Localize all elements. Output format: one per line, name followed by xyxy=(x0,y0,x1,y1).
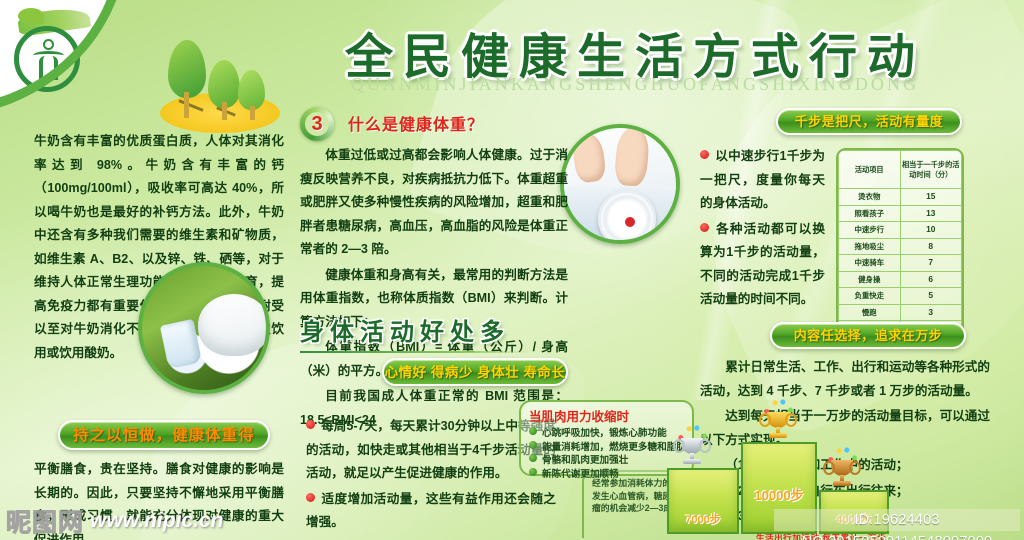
table-row: 中速骑车7 xyxy=(839,255,962,272)
masthead: 全民健康生活方式行动 QUANMINJIANKANGSHENGHUOFANGSH… xyxy=(275,26,995,104)
table-cell-activity: 负重快走 xyxy=(839,288,901,305)
poster-canvas: 全民健康生活方式行动 QUANMINJIANKANGSHENGHUOFANGSH… xyxy=(0,0,1024,540)
section-heading-3: 3 什么是健康体重？ xyxy=(300,108,530,140)
bullet-text: 以中速步行1千步为一把尺，度量你每天的身体活动。 xyxy=(700,149,825,210)
podium-block-center-label: 10000步 xyxy=(743,485,815,504)
logo-leaf-icon xyxy=(18,8,44,24)
list-item-label: 骨骼和肌肉更加强壮 xyxy=(542,455,628,466)
table-cell-activity: 照看孩子 xyxy=(839,205,901,222)
bullet-dot-icon xyxy=(306,493,315,502)
banner-persistence: 持之以恒做，健康体重得 xyxy=(58,420,270,450)
podium-block-left-label: 7000步 xyxy=(669,511,737,527)
table-cell-minutes: 15 xyxy=(900,189,962,206)
table-row: 慢跑3 xyxy=(839,304,962,321)
banner-activity-benefits-text: 身体活动好处多 xyxy=(300,312,532,347)
table-cell-activity: 烫衣物 xyxy=(839,189,901,206)
table-row: 照看孩子13 xyxy=(839,205,962,222)
foot-shape xyxy=(571,132,607,184)
bullet-text: 各种活动都可以换算为1千步的活动量，不同的活动完成1千步活动量的时间不同。 xyxy=(700,222,825,307)
trees-illustration xyxy=(150,38,290,133)
logo-badge xyxy=(0,0,117,113)
bullet-dot-icon xyxy=(306,420,315,429)
milk-bowl-shape xyxy=(198,294,270,356)
nipic-watermark-cn: 昵图网 xyxy=(6,503,84,539)
bronze-trophy-icon xyxy=(825,456,859,490)
milk-photo xyxy=(138,262,270,394)
center-column-body: 体重过低或过高都会影响人体健康。过于消瘦反映营养不良，对疾病抵抗力低下。体重超重… xyxy=(300,144,568,434)
scale-dial-icon xyxy=(598,190,656,244)
table-cell-activity: 中速步行 xyxy=(839,222,901,239)
bullet-dot-icon xyxy=(529,441,537,449)
section-heading-text: 什么是健康体重？ xyxy=(348,111,484,135)
banner-underline xyxy=(300,351,532,353)
podium-block-left: 7000步 xyxy=(667,468,739,534)
bullet-text: 适度增加活动量，这些有益作用还会随之增强。 xyxy=(306,492,556,530)
table-cell-minutes: 6 xyxy=(900,271,962,288)
table-row: 健身操6 xyxy=(839,271,962,288)
list-item-label: 心跳呼吸加快，锻炼心肺功能 xyxy=(542,428,667,439)
bullet-item: 适度增加活动量，这些有益作用还会随之增强。 xyxy=(306,488,556,535)
bullet-dot-icon xyxy=(529,454,537,462)
table-header-row: 活动项目 相当于一千步的活动时间（分） xyxy=(839,151,962,189)
gold-trophy-icon xyxy=(761,408,795,442)
bullet-item: 以中速步行1千步为一把尺，度量你每天的身体活动。 xyxy=(700,145,825,216)
table-cell-minutes: 3 xyxy=(900,304,962,321)
table-row: 中速步行10 xyxy=(839,222,962,239)
bullet-dot-icon xyxy=(700,223,709,232)
table-header-activity: 活动项目 xyxy=(839,151,901,189)
table-cell-minutes: 13 xyxy=(900,205,962,222)
table-cell-minutes: 5 xyxy=(900,288,962,305)
bullet-dot-icon xyxy=(529,427,537,435)
table-cell-activity: 健身操 xyxy=(839,271,901,288)
table-cell-minutes: 7 xyxy=(900,255,962,272)
banner-activity-benefits: 身体活动好处多 xyxy=(300,312,532,346)
table-cell-activity: 中速骑车 xyxy=(839,255,901,272)
bathroom-scale-photo xyxy=(560,124,680,244)
table-row: 拖地吸尘8 xyxy=(839,238,962,255)
table-row: 烫衣物15 xyxy=(839,189,962,206)
foot-shape xyxy=(614,127,651,188)
bullet-item: 各种活动都可以换算为1千步的活动量，不同的活动完成1千步活动量的时间不同。 xyxy=(700,218,825,312)
pill-thousand-steps-ruler: 千步是把尺，活动有量度 xyxy=(776,108,962,135)
muscle-box-title: 当肌肉用力收缩时 xyxy=(521,402,692,427)
table-row: 负重快走5 xyxy=(839,288,962,305)
tree-icon xyxy=(168,40,206,98)
nipic-watermark-url: www.nipic.cn xyxy=(90,509,223,533)
center-paragraph-1: 体重过低或过高都会影响人体健康。过于消瘦反映营养不良，对疾病抵抗力低下。体重超重… xyxy=(300,144,568,262)
page-title-pinyin: QUANMINJIANKANGSHENGHUOFANGSHIXINGDONG xyxy=(275,74,995,95)
healthy-lifestyle-logo-icon xyxy=(6,2,98,94)
logo-person-icon xyxy=(35,39,61,81)
table-cell-activity: 慢跑 xyxy=(839,304,901,321)
tree-icon xyxy=(208,60,240,108)
pill-four-benefits: 心情好 得病少 身体壮 寿命长 xyxy=(382,358,568,386)
section-number: 3 xyxy=(300,107,334,141)
right-column-bullets: 以中速步行1千步为一把尺，度量你每天的身体活动。 各种活动都可以换算为1千步的活… xyxy=(700,145,825,314)
pill-any-content-ten-thousand: 内容任选择，追求在万步 xyxy=(770,322,966,349)
table-header-minutes: 相当于一千步的活动时间（分） xyxy=(900,151,962,189)
silver-trophy-icon xyxy=(675,434,709,468)
table-cell-minutes: 8 xyxy=(900,238,962,255)
activity-steps-table: 活动项目 相当于一千步的活动时间（分） 烫衣物15照看孩子13中速步行10拖地吸… xyxy=(836,148,964,340)
milk-glass-shape xyxy=(160,319,202,369)
image-id-watermark: ID:19624403 NO:20150509114548097000 xyxy=(774,509,1020,531)
right-paragraph-1: 累计日常生活、工作、出行和运动等各种形式的活动，达到 4 千步、7 千步或者 1… xyxy=(700,356,990,403)
table-cell-activity: 拖地吸尘 xyxy=(839,238,901,255)
bullet-dot-icon xyxy=(700,150,709,159)
tree-icon xyxy=(238,70,265,110)
table-cell-minutes: 10 xyxy=(900,222,962,239)
nipic-watermark: 昵图网 www.nipic.cn xyxy=(6,503,223,539)
bullet-dot-icon xyxy=(529,468,537,476)
